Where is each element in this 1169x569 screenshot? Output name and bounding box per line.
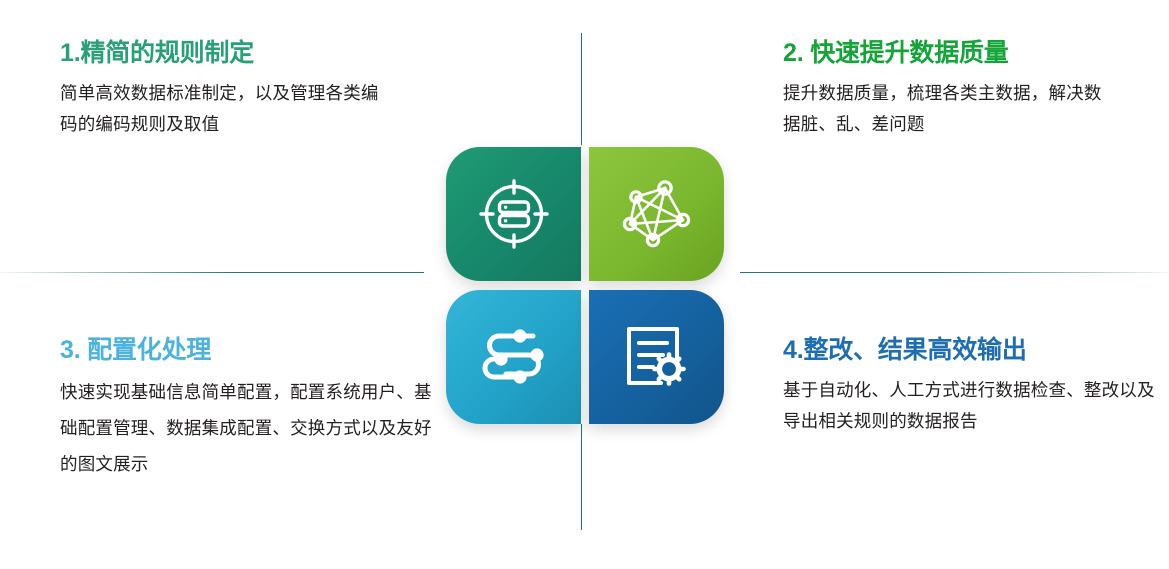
quadrant-quality: 2. 快速提升数据质量 提升数据质量，梳理各类主数据，解决数据脏、乱、差问题 bbox=[783, 38, 1113, 140]
quadrant-quality-heading: 2. 快速提升数据质量 bbox=[783, 38, 1113, 68]
network-graph-icon bbox=[619, 176, 695, 252]
workflow-route-icon bbox=[476, 321, 552, 393]
quadrant-config-body: 快速实现基础信息简单配置，配置系统用户、基础配置管理、数据集成配置、交换方式以及… bbox=[60, 375, 440, 483]
quadrant-quality-body: 提升数据质量，梳理各类主数据，解决数据脏、乱、差问题 bbox=[783, 78, 1113, 140]
tile-quality[interactable] bbox=[589, 147, 724, 281]
quadrant-output-body: 基于自动化、人工方式进行数据检查、整改以及导出相关规则的数据报告 bbox=[783, 375, 1158, 437]
divider-horizontal-left bbox=[0, 272, 424, 273]
document-gear-icon bbox=[619, 319, 695, 395]
tile-output[interactable] bbox=[589, 290, 724, 424]
divider-horizontal-right bbox=[740, 272, 1169, 273]
quadrant-output-heading: 4.整改、结果高效输出 bbox=[783, 335, 1158, 365]
quadrant-config-heading: 3. 配置化处理 bbox=[60, 335, 440, 365]
divider-vertical-top bbox=[581, 33, 582, 145]
tile-config[interactable] bbox=[446, 290, 581, 424]
center-icon-cluster bbox=[446, 147, 724, 424]
tile-rules[interactable] bbox=[446, 147, 581, 281]
quadrant-rules-heading: 1.精简的规则制定 bbox=[60, 38, 390, 68]
quadrant-rules-body: 简单高效数据标准制定，以及管理各类编码的编码规则及取值 bbox=[60, 78, 390, 140]
quadrant-config: 3. 配置化处理 快速实现基础信息简单配置，配置系统用户、基础配置管理、数据集成… bbox=[60, 335, 440, 483]
quadrant-rules: 1.精简的规则制定 简单高效数据标准制定，以及管理各类编码的编码规则及取值 bbox=[60, 38, 390, 140]
quadrant-output: 4.整改、结果高效输出 基于自动化、人工方式进行数据检查、整改以及导出相关规则的… bbox=[783, 335, 1158, 437]
divider-vertical-bottom bbox=[581, 424, 582, 530]
target-database-icon bbox=[476, 176, 552, 252]
